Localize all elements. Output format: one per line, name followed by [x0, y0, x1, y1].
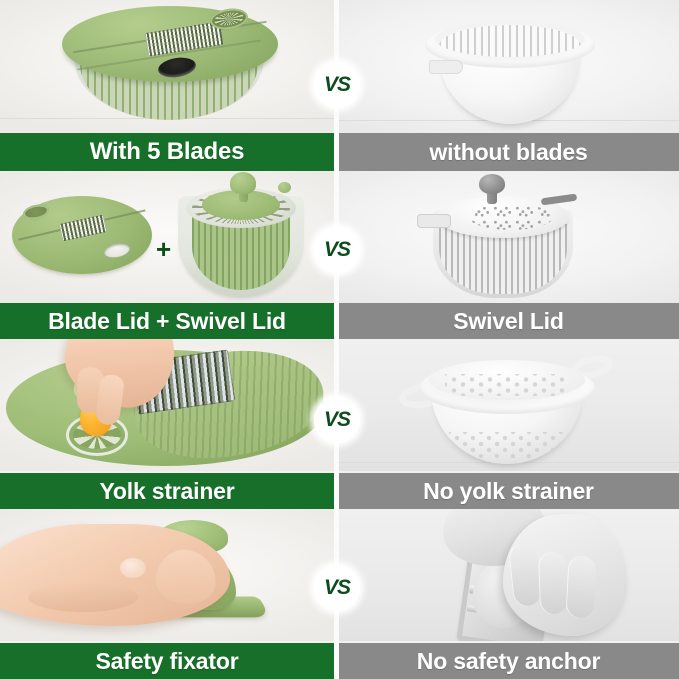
vs-badge-row-4: VS: [314, 565, 360, 611]
white-colander-bowl: [425, 16, 595, 124]
finger: [538, 552, 568, 615]
comparison-infographic: +: [0, 0, 679, 679]
label-swivel-lid: Swivel Lid: [338, 303, 679, 339]
vs-badge-row-2: VS: [314, 227, 360, 273]
white-two-handle-colander: [399, 350, 613, 466]
row-2-left-panel: +: [0, 170, 336, 303]
side-latch: [417, 214, 451, 228]
vs-label: VS: [324, 576, 350, 600]
plus-sign: +: [156, 236, 171, 262]
grater-blade-icon: [59, 214, 108, 241]
row-1-left-panel: [0, 0, 336, 133]
feed-hole: [157, 55, 198, 80]
lid-perforations: [469, 204, 553, 230]
row-3-right-panel: [337, 338, 679, 471]
row-4-left-panel: [0, 508, 336, 641]
bowl-interior-slots: [435, 21, 585, 57]
colander-interior: [429, 360, 585, 400]
label-safety-fixator: Safety fixator: [0, 643, 334, 679]
row-2-right-panel: [337, 170, 679, 303]
feed-hole: [103, 241, 131, 259]
label-yolk-strainer: Yolk strainer: [0, 473, 334, 509]
row-1-right-panel: [337, 0, 679, 133]
vs-badge-row-1: VS: [314, 62, 360, 108]
crank-handle: [541, 194, 578, 206]
label-no-safety-anchor: No safety anchor: [338, 643, 679, 679]
hand-pressing-dome: [0, 524, 230, 626]
knuckle-shading: [28, 582, 138, 612]
side-button: [278, 182, 291, 193]
vs-label: VS: [324, 238, 350, 262]
white-swivel-spinner: [423, 174, 583, 298]
vs-badge-row-3: VS: [314, 397, 360, 443]
hand-pushing-potato: [503, 514, 627, 636]
finger: [565, 555, 596, 618]
thumb: [153, 547, 218, 607]
spinner-knob: [230, 172, 256, 194]
vs-label: VS: [324, 73, 350, 97]
vs-label: VS: [324, 408, 350, 432]
label-blade-lid-swivel-lid: Blade Lid + Swivel Lid: [0, 303, 334, 339]
fingernail: [120, 558, 146, 578]
label-without-blades: without blades: [338, 133, 679, 171]
green-swivel-spinner: [178, 174, 304, 298]
row-3-left-panel: [0, 338, 336, 471]
bowl-handle: [429, 60, 463, 74]
spinner-knob: [479, 174, 505, 194]
label-with-5-blades: With 5 Blades: [0, 133, 334, 171]
flat-blade-lid: [12, 196, 152, 274]
finger: [508, 543, 542, 608]
label-no-yolk-strainer: No yolk strainer: [338, 473, 679, 509]
row-4-right-panel: [337, 508, 679, 641]
green-blade-lid: [62, 6, 278, 82]
